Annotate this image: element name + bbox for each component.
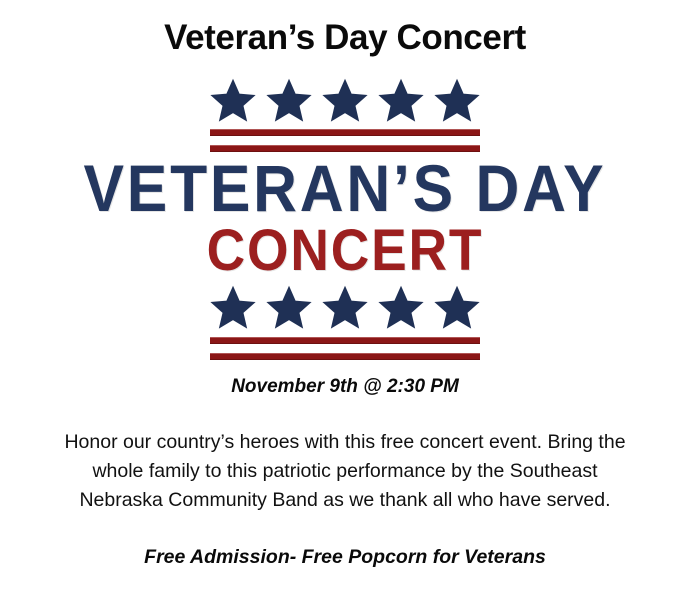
- star-icon: [210, 285, 256, 329]
- star-icon: [434, 285, 480, 329]
- stripe: [210, 337, 480, 344]
- event-datetime: November 9th @ 2:30 PM: [0, 374, 690, 400]
- star-icon: [378, 78, 424, 122]
- star-icon: [434, 78, 480, 122]
- star-row-bottom: [210, 285, 480, 329]
- stripe: [210, 129, 480, 136]
- flyer-page: Veteran’s Day Concert VETERAN’: [0, 0, 690, 589]
- emblem-bottom: [0, 285, 690, 360]
- star-row-top: [210, 78, 480, 122]
- star-icon: [378, 285, 424, 329]
- headline-primary-text: VETERAN’S DAY: [28, 155, 663, 221]
- star-icon: [210, 78, 256, 122]
- stripe-group-bottom: [210, 337, 480, 360]
- event-description: Honor our country’s heroes with this fre…: [10, 428, 680, 515]
- star-icon: [266, 285, 312, 329]
- stripe: [210, 353, 480, 360]
- headline-secondary: CONCERT: [0, 222, 690, 280]
- headline-primary: VETERAN’S DAY: [0, 155, 690, 221]
- headline-secondary-text: CONCERT: [28, 222, 663, 280]
- star-icon: [322, 285, 368, 329]
- description-line: Nebraska Community Band as we thank all …: [10, 486, 680, 515]
- star-icon: [266, 78, 312, 122]
- page-title: Veteran’s Day Concert: [0, 16, 690, 60]
- description-line: Honor our country’s heroes with this fre…: [10, 428, 680, 457]
- emblem-top: [0, 78, 690, 152]
- admission-note: Free Admission- Free Popcorn for Veteran…: [0, 544, 690, 570]
- star-icon: [322, 78, 368, 122]
- stripe-group-top: [210, 129, 480, 152]
- description-line: whole family to this patriotic performan…: [10, 457, 680, 486]
